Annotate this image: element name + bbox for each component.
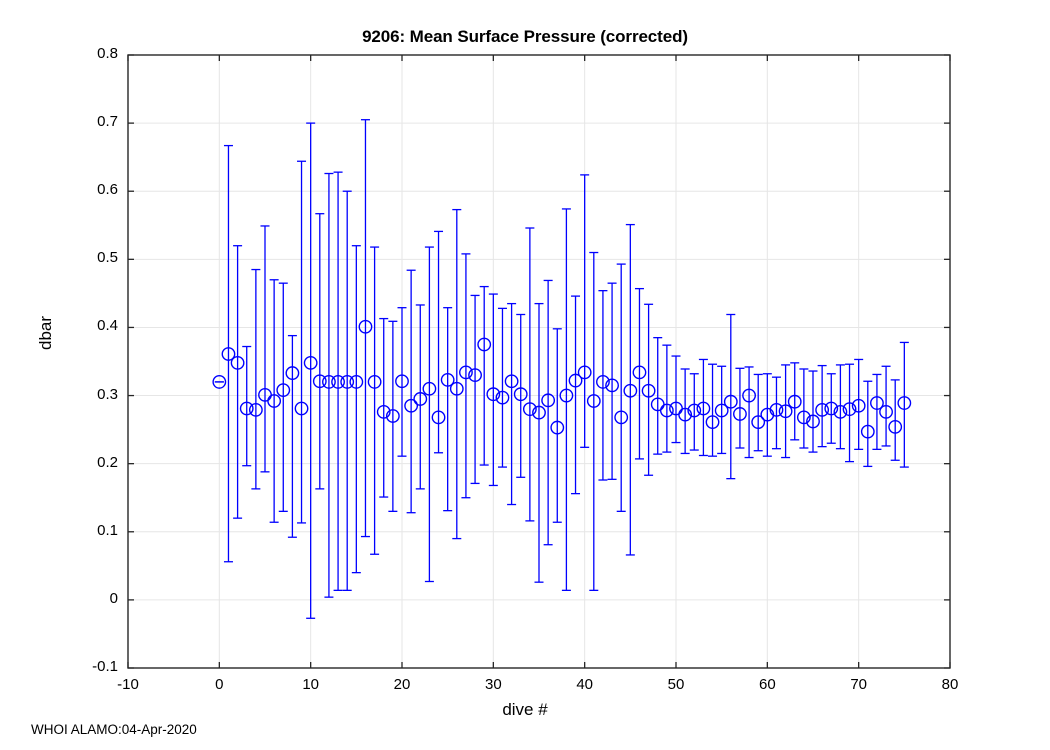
y-tick-label: 0.6 xyxy=(60,181,118,198)
chart-figure: 9206: Mean Surface Pressure (corrected) … xyxy=(0,0,1050,750)
x-tick-label: 30 xyxy=(463,676,523,693)
x-tick-label: 50 xyxy=(646,676,706,693)
x-tick-label: 40 xyxy=(555,676,615,693)
y-tick-label: 0.5 xyxy=(60,249,118,266)
x-tick-label: 70 xyxy=(829,676,889,693)
x-tick-label: 0 xyxy=(189,676,249,693)
plot-area xyxy=(0,0,1050,750)
y-tick-label: 0.2 xyxy=(60,454,118,471)
data-markers xyxy=(213,321,910,438)
x-tick-label: 80 xyxy=(920,676,980,693)
error-bars xyxy=(215,120,909,619)
y-tick-label: 0.3 xyxy=(60,386,118,403)
x-tick-label: 60 xyxy=(737,676,797,693)
y-tick-label: -0.1 xyxy=(60,658,118,675)
x-tick-label: 10 xyxy=(281,676,341,693)
y-tick-label: 0.7 xyxy=(60,113,118,130)
x-tick-label: 20 xyxy=(372,676,432,693)
chart-title: 9206: Mean Surface Pressure (corrected) xyxy=(0,27,1050,47)
figure-footer-note: WHOI ALAMO:04-Apr-2020 xyxy=(31,722,197,737)
x-axis-label: dive # xyxy=(0,700,1050,720)
y-tick-label: 0.4 xyxy=(60,317,118,334)
y-axis-label: dbar xyxy=(36,316,56,350)
y-tick-label: 0.1 xyxy=(60,522,118,539)
x-tick-label: -10 xyxy=(98,676,158,693)
y-tick-label: 0 xyxy=(60,590,118,607)
y-tick-label: 0.8 xyxy=(60,45,118,62)
